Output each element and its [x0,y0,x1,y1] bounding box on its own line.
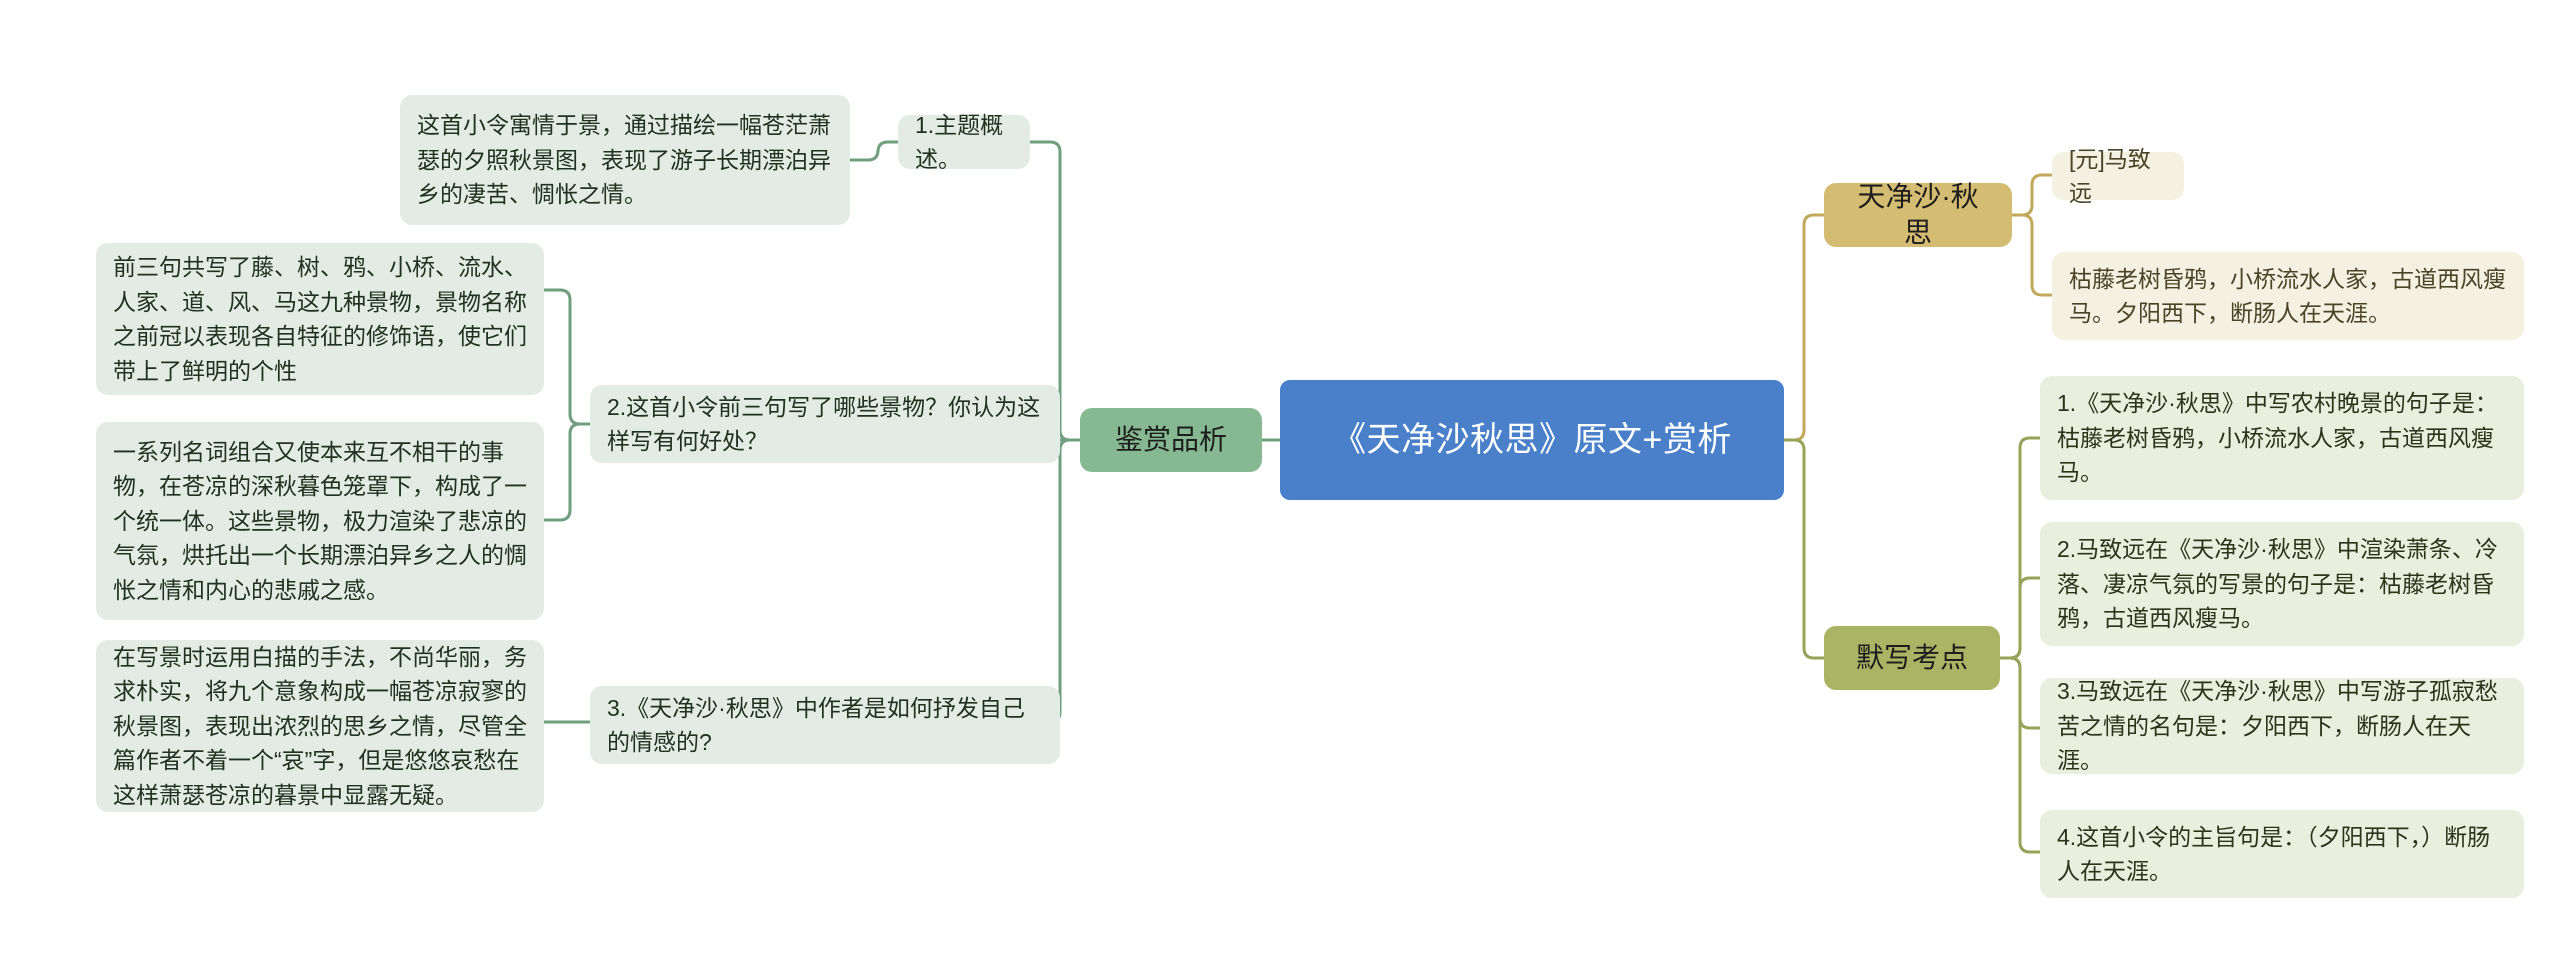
node-scenery-answer-1-label: 前三句共写了藤、树、鸦、小桥、流水、人家、道、风、马这九种景物，景物名称之前冠以… [113,250,527,388]
node-scenery-question[interactable]: 2.这首小令前三句写了哪些景物？你认为这样写有何好处？ [590,385,1060,463]
root-node-label: 《天净沙秋思》原文+赏析 [1302,418,1762,463]
node-recitation-3-label: 3.马致远在《天净沙·秋思》中写游子孤寂愁苦之情的名句是：夕阳西下，断肠人在天涯… [2057,674,2507,778]
node-recitation-3[interactable]: 3.马致远在《天净沙·秋思》中写游子孤寂愁苦之情的名句是：夕阳西下，断肠人在天涯… [2040,678,2524,774]
branch-node-recitation-label: 默写考点 [1844,640,1980,676]
branch-node-poem[interactable]: 天净沙·秋思 [1824,183,2012,247]
node-recitation-2[interactable]: 2.马致远在《天净沙·秋思》中渲染萧条、冷落、凄凉气氛的写景的句子是：枯藤老树昏… [2040,522,2524,646]
node-emotion-question-label: 3.《天净沙·秋思》中作者是如何抒发自己的情感的? [607,691,1043,760]
node-topic-overview-detail-label: 这首小令寓情于景，通过描绘一幅苍茫萧瑟的夕照秋景图，表现了游子长期漂泊异乡的凄苦… [417,108,833,212]
node-poem-author[interactable]: [元]马致远 [2052,152,2184,200]
node-topic-overview-label: 1.主题概述。 [915,108,1013,177]
node-scenery-answer-2-label: 一系列名词组合又使本来互不相干的事物，在苍凉的深秋暮色笼罩下，构成了一个统一体。… [113,435,527,608]
branch-node-recitation[interactable]: 默写考点 [1824,626,2000,690]
node-topic-overview-detail[interactable]: 这首小令寓情于景，通过描绘一幅苍茫萧瑟的夕照秋景图，表现了游子长期漂泊异乡的凄苦… [400,95,850,225]
node-scenery-answer-2[interactable]: 一系列名词组合又使本来互不相干的事物，在苍凉的深秋暮色笼罩下，构成了一个统一体。… [96,422,544,620]
node-recitation-4-label: 4.这首小令的主旨句是：（夕阳西下，）断肠人在天涯。 [2057,820,2507,889]
node-recitation-4[interactable]: 4.这首小令的主旨句是：（夕阳西下，）断肠人在天涯。 [2040,810,2524,898]
node-emotion-answer-label: 在写景时运用白描的手法，不尚华丽，务求朴实，将九个意象构成一幅苍凉寂寥的秋景图，… [113,640,527,813]
node-recitation-1-label: 1.《天净沙·秋思》中写农村晚景的句子是：枯藤老树昏鸦，小桥流水人家，古道西风瘦… [2057,386,2507,490]
node-emotion-answer[interactable]: 在写景时运用白描的手法，不尚华丽，务求朴实，将九个意象构成一幅苍凉寂寥的秋景图，… [96,640,544,812]
node-recitation-2-label: 2.马致远在《天净沙·秋思》中渲染萧条、冷落、凄凉气氛的写景的句子是：枯藤老树昏… [2057,532,2507,636]
node-poem-body-label: 枯藤老树昏鸦，小桥流水人家，古道西风瘦马。夕阳西下，断肠人在天涯。 [2069,262,2507,331]
node-emotion-question[interactable]: 3.《天净沙·秋思》中作者是如何抒发自己的情感的? [590,686,1060,764]
node-scenery-answer-1[interactable]: 前三句共写了藤、树、鸦、小桥、流水、人家、道、风、马这九种景物，景物名称之前冠以… [96,243,544,395]
node-scenery-question-label: 2.这首小令前三句写了哪些景物？你认为这样写有何好处？ [607,390,1043,459]
node-poem-author-label: [元]马致远 [2069,142,2167,211]
node-poem-body[interactable]: 枯藤老树昏鸦，小桥流水人家，古道西风瘦马。夕阳西下，断肠人在天涯。 [2052,252,2524,340]
branch-node-poem-label: 天净沙·秋思 [1844,179,1992,252]
branch-node-appreciation[interactable]: 鉴赏品析 [1080,408,1262,472]
node-topic-overview[interactable]: 1.主题概述。 [898,115,1030,169]
root-node[interactable]: 《天净沙秋思》原文+赏析 [1280,380,1784,500]
branch-node-appreciation-label: 鉴赏品析 [1100,422,1242,458]
node-recitation-1[interactable]: 1.《天净沙·秋思》中写农村晚景的句子是：枯藤老树昏鸦，小桥流水人家，古道西风瘦… [2040,376,2524,500]
mindmap-canvas: 《天净沙秋思》原文+赏析 鉴赏品析 1.主题概述。 这首小令寓情于景，通过描绘一… [0,0,2560,976]
